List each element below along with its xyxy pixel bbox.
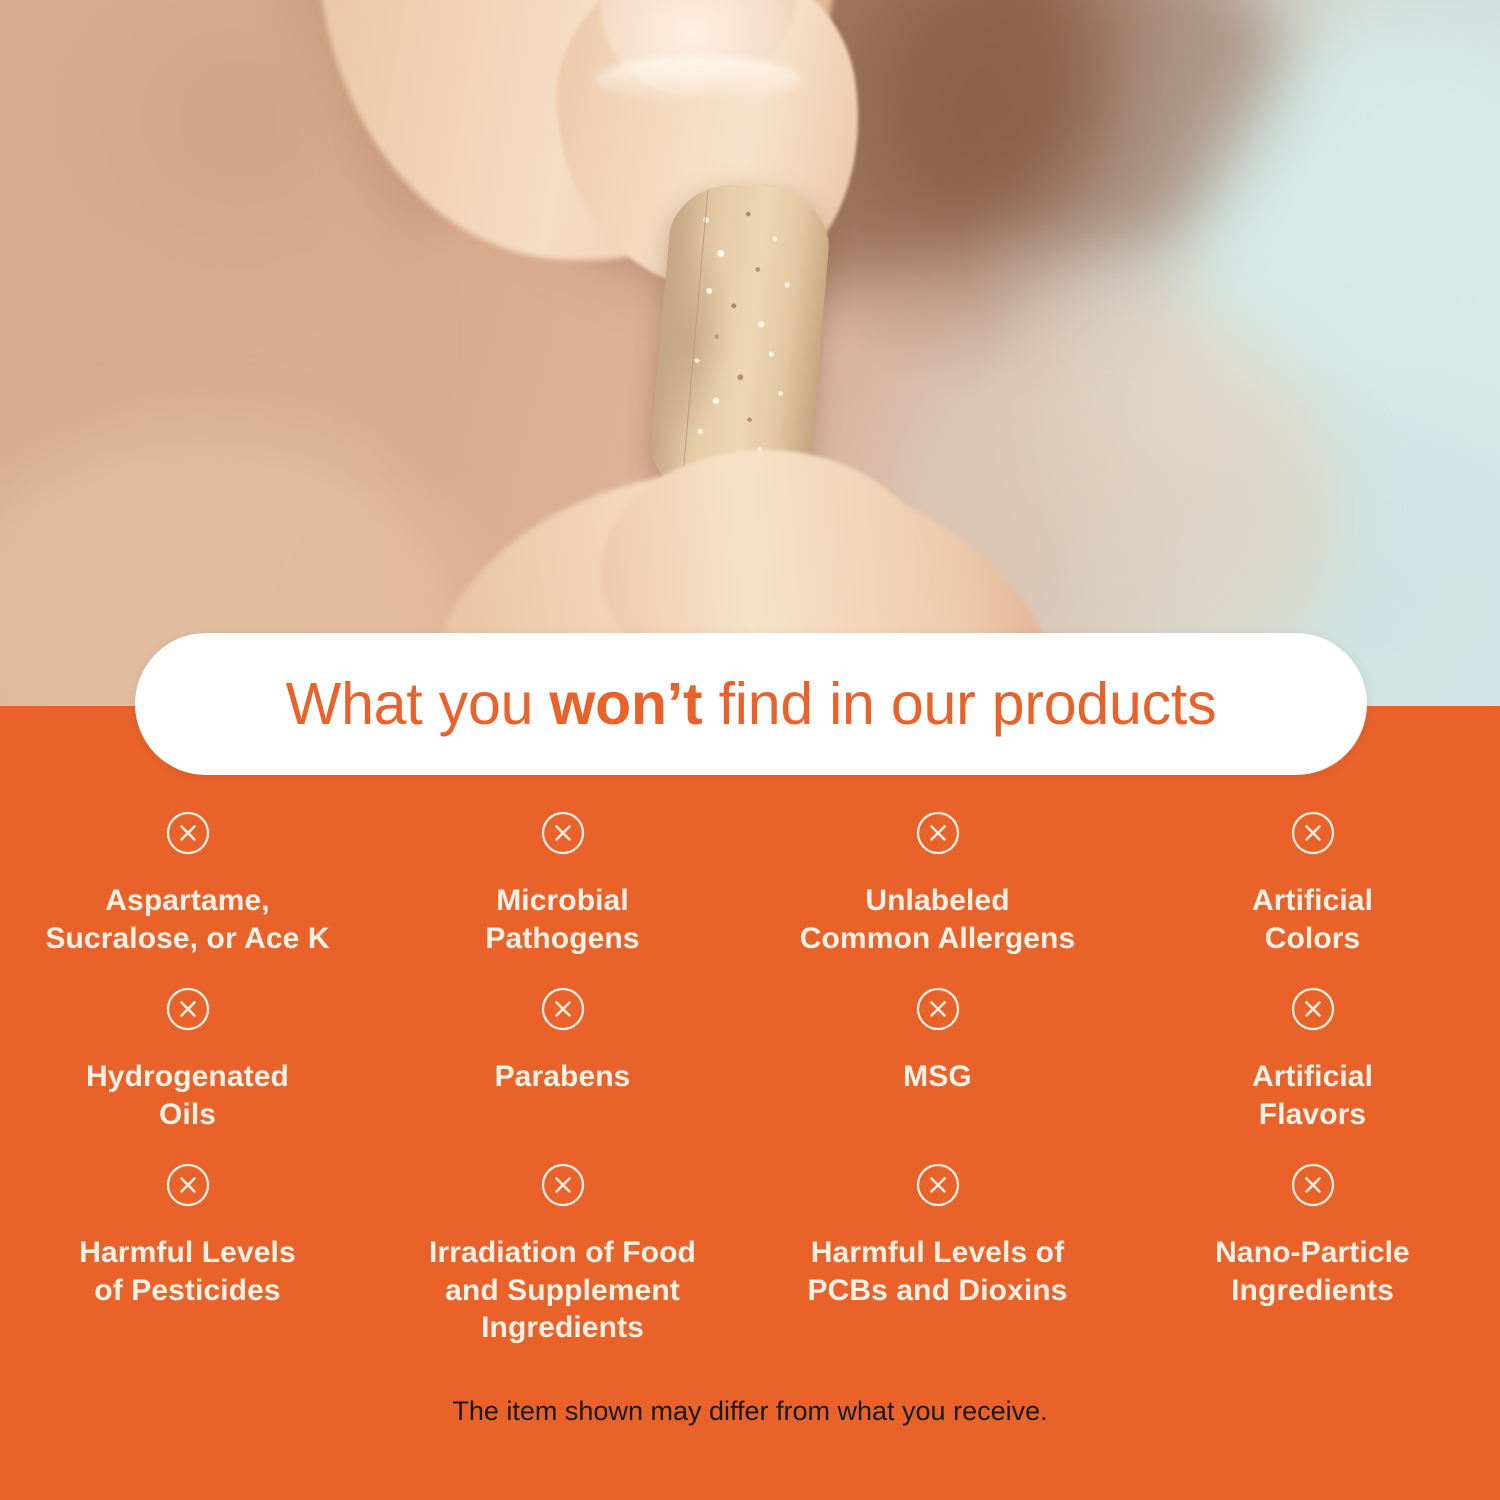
label-line: Aspartame, <box>45 882 329 920</box>
exclusion-grid: Aspartame, Sucralose, or Ace K Microbial… <box>0 810 1500 1347</box>
exclusion-label: Microbial Pathogens <box>485 882 639 957</box>
circle-x-icon <box>915 810 961 856</box>
exclusion-label: Harmful Levels of PCBs and Dioxins <box>808 1234 1068 1309</box>
circle-x-icon <box>1290 1162 1336 1208</box>
label-line: Artificial <box>1252 882 1373 920</box>
exclusion-label: Hydrogenated Oils <box>86 1058 289 1133</box>
exclusion-label: Unlabeled Common Allergens <box>800 882 1076 957</box>
exclusion-label: Parabens <box>495 1058 631 1096</box>
title-card: What you won’t find in our products <box>135 633 1367 775</box>
label-line: Pathogens <box>485 920 639 958</box>
title-emphasis: won’t <box>549 671 702 737</box>
circle-x-icon <box>165 986 211 1032</box>
circle-x-icon <box>915 986 961 1032</box>
infographic-page: What you won’t find in our products Aspa… <box>0 0 1500 1500</box>
circle-x-icon <box>1290 986 1336 1032</box>
label-line: Sucralose, or Ace K <box>45 920 329 958</box>
label-line: Parabens <box>495 1058 631 1096</box>
exclusion-label: Harmful Levels of Pesticides <box>79 1234 295 1309</box>
label-line: MSG <box>903 1058 972 1096</box>
label-line: Common Allergens <box>800 920 1076 958</box>
circle-x-icon <box>540 810 586 856</box>
exclusion-item: Hydrogenated Oils <box>0 986 375 1162</box>
hero-product-photo <box>0 0 1500 708</box>
exclusion-item: Artificial Flavors <box>1125 986 1500 1162</box>
label-line: Colors <box>1252 920 1373 958</box>
circle-x-icon <box>540 1162 586 1208</box>
exclusion-label: Aspartame, Sucralose, or Ace K <box>45 882 329 957</box>
exclusion-item: Microbial Pathogens <box>375 810 750 986</box>
label-line: Ingredients <box>429 1309 696 1347</box>
label-line: Artificial <box>1252 1058 1373 1096</box>
label-line: Harmful Levels of <box>808 1234 1068 1272</box>
fingernail-edge <box>596 56 802 104</box>
exclusion-label: MSG <box>903 1058 972 1096</box>
circle-x-icon <box>540 986 586 1032</box>
label-line: and Supplement <box>429 1272 696 1310</box>
exclusion-item: Nano-Particle Ingredients <box>1125 1162 1500 1347</box>
label-line: Irradiation of Food <box>429 1234 696 1272</box>
label-line: Hydrogenated <box>86 1058 289 1096</box>
exclusion-label: Artificial Colors <box>1252 882 1373 957</box>
title-part-before: What you <box>286 671 550 737</box>
label-line: PCBs and Dioxins <box>808 1272 1068 1310</box>
exclusion-item: Harmful Levels of Pesticides <box>0 1162 375 1347</box>
exclusion-item: Aspartame, Sucralose, or Ace K <box>0 810 375 986</box>
circle-x-icon <box>165 810 211 856</box>
exclusion-label: Artificial Flavors <box>1252 1058 1373 1133</box>
page-title: What you won’t find in our products <box>286 675 1217 734</box>
exclusion-label: Irradiation of Food and Supplement Ingre… <box>429 1234 696 1347</box>
exclusion-item: Parabens <box>375 986 750 1162</box>
label-line: Unlabeled <box>800 882 1076 920</box>
exclusion-item: Irradiation of Food and Supplement Ingre… <box>375 1162 750 1347</box>
label-line: Oils <box>86 1096 289 1134</box>
circle-x-icon <box>165 1162 211 1208</box>
exclusion-item: Unlabeled Common Allergens <box>750 810 1125 986</box>
label-line: Microbial <box>485 882 639 920</box>
title-part-after: find in our products <box>702 671 1216 737</box>
label-line: of Pesticides <box>79 1272 295 1310</box>
disclaimer-text: The item shown may differ from what you … <box>0 1396 1500 1427</box>
exclusion-item: Artificial Colors <box>1125 810 1500 986</box>
label-line: Nano-Particle <box>1215 1234 1410 1272</box>
exclusion-item: MSG <box>750 986 1125 1162</box>
label-line: Ingredients <box>1215 1272 1410 1310</box>
exclusion-item: Harmful Levels of PCBs and Dioxins <box>750 1162 1125 1347</box>
label-line: Harmful Levels <box>79 1234 295 1272</box>
exclusion-label: Nano-Particle Ingredients <box>1215 1234 1410 1309</box>
label-line: Flavors <box>1252 1096 1373 1134</box>
circle-x-icon <box>915 1162 961 1208</box>
circle-x-icon <box>1290 810 1336 856</box>
